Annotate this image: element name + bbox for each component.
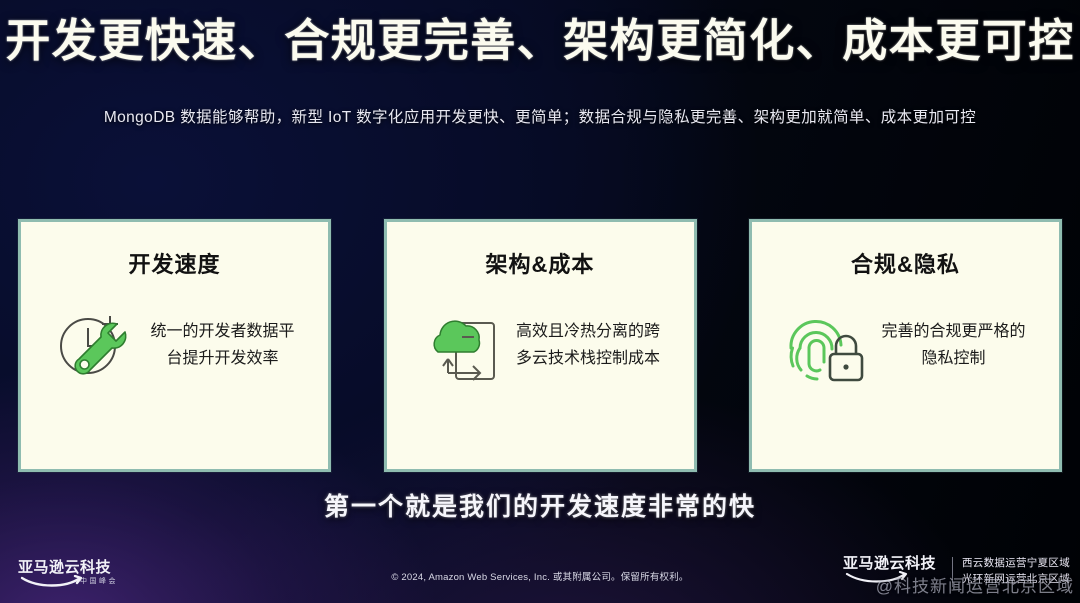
region-line-ningxia: 西云数据运营宁夏区域 [962,555,1070,571]
card-body: 完善的合规更严格的隐私控制 [752,299,1059,391]
card-body: 统一的开发者数据平台提升开发效率 [21,299,328,391]
card-title: 开发速度 [128,247,220,279]
fingerprint-lock-icon [783,299,869,391]
feature-card-row: 开发速度 统一的开发者数据平台提升开发效率 架构&成本 [18,219,1062,472]
brand-name-right: 亚马逊云科技 [843,555,943,572]
feature-card-compliance-privacy[interactable]: 合规&隐私 [749,219,1062,472]
cloud-transfer-icon [417,299,503,391]
slide-caption: 第一个就是我们的开发速度非常的快 [0,487,1080,523]
slide-subtitle: MongoDB 数据能够帮助，新型 IoT 数字化应用开发更快、更简单；数据合规… [0,107,1080,129]
slide-canvas: 开发更快速、合规更完善、架构更简化、成本更可控 MongoDB 数据能够帮助，新… [0,0,1080,603]
amazon-smile-icon-right [843,571,943,585]
card-title: 合规&隐私 [851,247,960,279]
slide-title: 开发更快速、合规更完善、架构更简化、成本更可控 [0,14,1080,68]
card-body: 高效且冷热分离的跨多云技术栈控制成本 [387,299,694,391]
region-line-beijing: 光环新网运营北京区域 [962,571,1070,587]
card-title: 架构&成本 [486,247,595,279]
feature-card-architecture-cost[interactable]: 架构&成本 高效且冷热分离的跨多云技术栈控制成本 [384,219,697,472]
clock-wrench-icon [52,299,138,391]
footer-divider [952,557,953,587]
footer-operators: 亚马逊云科技 西云数据运营宁夏区域 光环新网运营北京区域 [843,555,1070,587]
feature-card-dev-speed[interactable]: 开发速度 统一的开发者数据平台提升开发效率 [18,219,331,472]
card-text: 完善的合规更严格的隐私控制 [879,318,1029,372]
card-text: 高效且冷热分离的跨多云技术栈控制成本 [513,318,663,372]
footer-logo-right: 亚马逊云科技 [843,555,943,585]
footer-region-lines: 西云数据运营宁夏区域 光环新网运营北京区域 [962,555,1070,587]
title-block: 开发更快速、合规更完善、架构更简化、成本更可控 [0,14,1080,68]
card-text: 统一的开发者数据平台提升开发效率 [148,318,298,372]
